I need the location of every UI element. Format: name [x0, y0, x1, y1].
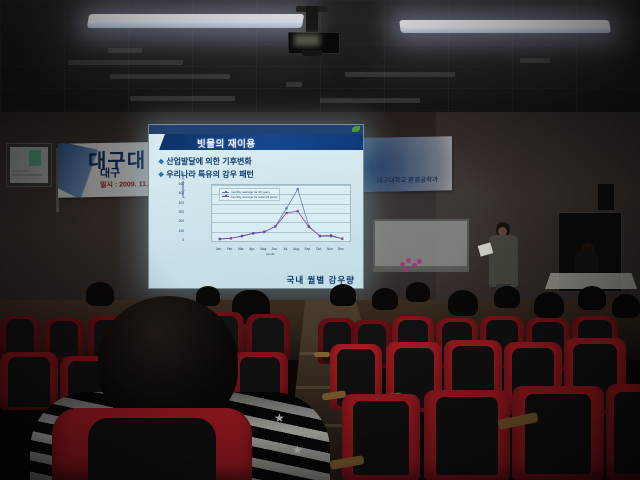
- chart-x-tick-label: Jun.: [271, 247, 277, 251]
- audience-head: [612, 294, 640, 318]
- chart-y-tick-label: 200: [164, 219, 184, 223]
- wall-poster-frame: [6, 143, 52, 187]
- audience-head: [448, 290, 478, 316]
- leaf-icon: [352, 126, 360, 132]
- ceiling-projector: [286, 6, 340, 54]
- chart-x-tick-label: Nov.: [327, 247, 333, 251]
- chart-data-point: [319, 235, 321, 237]
- chart-x-tick-label: May: [260, 247, 266, 251]
- ceiling: [0, 0, 640, 120]
- bullet-diamond-icon: ❖: [158, 159, 164, 166]
- chart-data-point: [274, 225, 276, 227]
- seat: [342, 394, 420, 480]
- chart-data-point: [230, 237, 232, 239]
- chart-series-line-1: [220, 189, 342, 238]
- chart-data-point: [285, 212, 287, 214]
- slide-top-band: [149, 125, 363, 134]
- presenter-coat: [489, 235, 518, 287]
- chart-series-line-2: [220, 211, 342, 239]
- projector-lamp-glow: [294, 34, 320, 46]
- audience-head: [534, 292, 564, 318]
- chart-y-tick-label: 0: [164, 238, 184, 242]
- ceiling-vent: [286, 82, 302, 87]
- star-pattern: ★: [274, 412, 285, 424]
- chart-x-tick-label: Oct.: [316, 247, 322, 251]
- chart-y-tick-label: 300: [164, 210, 184, 214]
- audience-head: [578, 286, 606, 310]
- chart-y-tick-label: 500: [164, 191, 184, 195]
- presentation-slide: RAINBOW 빗물의 재이용 ❖산업발달에 의한 기후변화 ❖우리나라 특유의…: [149, 125, 363, 288]
- chart-data-point: [330, 234, 332, 236]
- chart-data-point: [308, 226, 310, 228]
- wall-speaker: [597, 183, 615, 211]
- ceiling-vent: [130, 96, 235, 101]
- ceiling-vent: [108, 48, 142, 53]
- ceiling-vent: [320, 98, 420, 103]
- flower: [400, 262, 405, 267]
- banner-organization: 대구대학교 환경공학과: [376, 173, 438, 184]
- flower: [404, 267, 409, 272]
- chart-data-point: [297, 188, 299, 190]
- chart-plot-area: monthly average for 30 years monthly ave…: [211, 184, 351, 242]
- chart-x-tick-label: Feb.: [227, 247, 233, 251]
- chart-gridline: [212, 241, 350, 242]
- banner-title-sub: 대구: [100, 165, 120, 181]
- bullet-diamond-icon: ❖: [158, 172, 164, 179]
- chart-x-tick-label: Sep.: [305, 247, 312, 251]
- poster-logo: [29, 150, 41, 166]
- ceiling-vent: [110, 74, 230, 79]
- chart-y-tick-label: 600: [164, 182, 184, 186]
- chart-series-svg: [212, 185, 350, 241]
- projector-lens: [302, 50, 322, 56]
- flower: [412, 263, 417, 268]
- ceiling-light-right: [399, 20, 611, 33]
- flower-arrangement: [398, 258, 424, 274]
- chart-data-point: [285, 207, 287, 209]
- rear-doorway-alcove: [558, 212, 622, 292]
- chart-data-point: [241, 235, 243, 237]
- seat: [512, 386, 604, 480]
- chart-x-tick-label: Jul.: [283, 247, 288, 251]
- chart-data-point: [219, 238, 221, 240]
- audience-head: [330, 284, 356, 306]
- chart-x-axis-title: month: [266, 252, 275, 256]
- ceiling-vent: [68, 60, 183, 65]
- poster-text-line: [12, 170, 28, 172]
- slide-bullet-1: ❖산업발달에 의한 기후변화: [158, 156, 252, 167]
- poster-text-line: [12, 174, 42, 176]
- ceiling-light-left: [87, 14, 304, 28]
- auditorium-scene: 대구대 발표회 대구 발표회 일시 : 2009. 11. 20 대구대학교 환…: [0, 0, 640, 480]
- flower: [417, 259, 422, 264]
- ceiling-vent: [520, 58, 550, 63]
- rainfall-line-chart: precipitation (mm) 0100200300400500600 m…: [187, 182, 353, 256]
- chart-x-tick-label: Dec.: [338, 247, 345, 251]
- slide-bullet-1-text: 산업발달에 의한 기후변화: [166, 157, 251, 166]
- seat: [52, 408, 252, 480]
- audience-head: [406, 282, 430, 302]
- seat: [606, 384, 640, 480]
- slide-bullet-2-text: 우리나라 특유의 강우 패턴: [166, 170, 254, 179]
- chart-data-point: [263, 231, 265, 233]
- slide-title-bar: [159, 134, 363, 150]
- chart-y-tick-label: 100: [164, 229, 184, 233]
- projector-mount-arm: [306, 6, 318, 34]
- chart-data-point: [341, 238, 343, 240]
- chart-x-tick-label: Jan.: [216, 247, 222, 251]
- chart-y-tick-label: 400: [164, 201, 184, 205]
- slide-title: 빗물의 재이용: [197, 136, 256, 150]
- chart-x-tick-label: Mar.: [238, 247, 244, 251]
- foreground-head: [98, 296, 238, 426]
- flower: [406, 258, 411, 263]
- slide-logo-text: RAINBOW: [332, 127, 350, 131]
- chart-x-tick-label: Aug.: [293, 247, 300, 251]
- projection-screen: RAINBOW 빗물의 재이용 ❖산업발달에 의한 기후변화 ❖우리나라 특유의…: [148, 124, 364, 289]
- audience-head: [494, 286, 520, 308]
- slide-logo: RAINBOW: [332, 126, 360, 134]
- star-pattern: ★: [292, 444, 303, 456]
- seat: [424, 390, 510, 480]
- audience-head: [372, 288, 398, 310]
- chart-data-point: [297, 210, 299, 212]
- chart-data-point: [252, 232, 254, 234]
- chart-x-tick-label: Apr.: [249, 247, 255, 251]
- ceiling-vent: [345, 72, 455, 77]
- slide-bullet-2: ❖우리나라 특유의 강우 패턴: [158, 169, 254, 180]
